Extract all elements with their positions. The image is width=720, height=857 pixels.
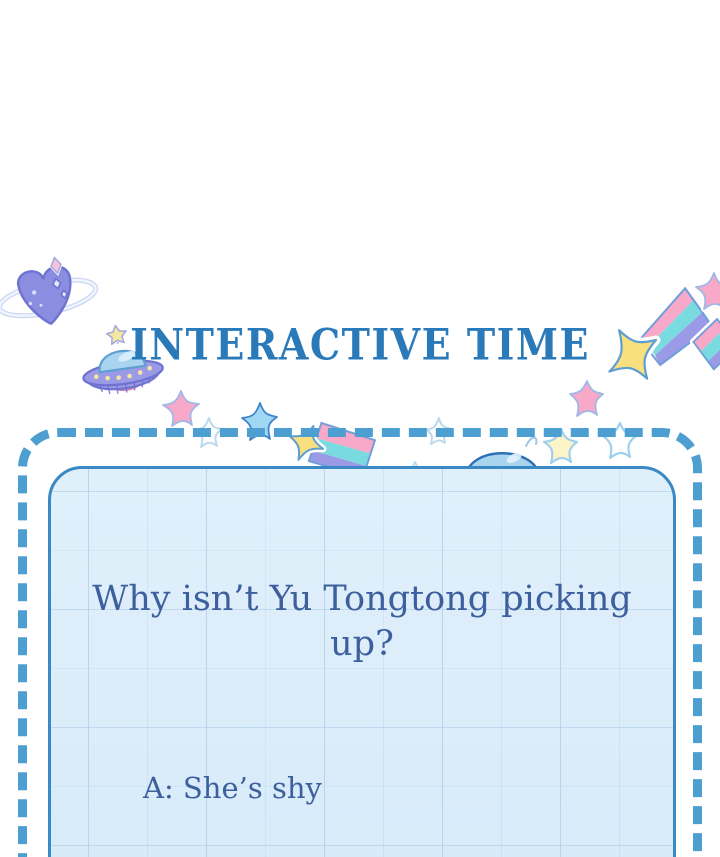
ufo-sticker	[72, 318, 188, 426]
page-title-row: INTERACTIVE TIME	[0, 326, 720, 364]
rainbow-strip-sticker	[700, 322, 720, 382]
question-card: Why isn’t Yu Tongtong picking up? A: She…	[48, 466, 676, 857]
question-text: Why isn’t Yu Tongtong picking up?	[51, 577, 673, 667]
page-title: INTERACTIVE TIME	[130, 324, 590, 367]
pink-star-sticker-right	[692, 268, 720, 314]
heart-planet-sticker	[0, 252, 102, 348]
pink-star-sticker	[158, 386, 204, 432]
shooting-star-sticker	[602, 300, 720, 410]
pink-star-sticker-mid	[566, 376, 608, 420]
answer-text: A: She’s shy	[143, 771, 322, 805]
interactive-time-page: INTERACTIVE TIME Why isn’t Yu Tongtong p…	[0, 0, 720, 857]
